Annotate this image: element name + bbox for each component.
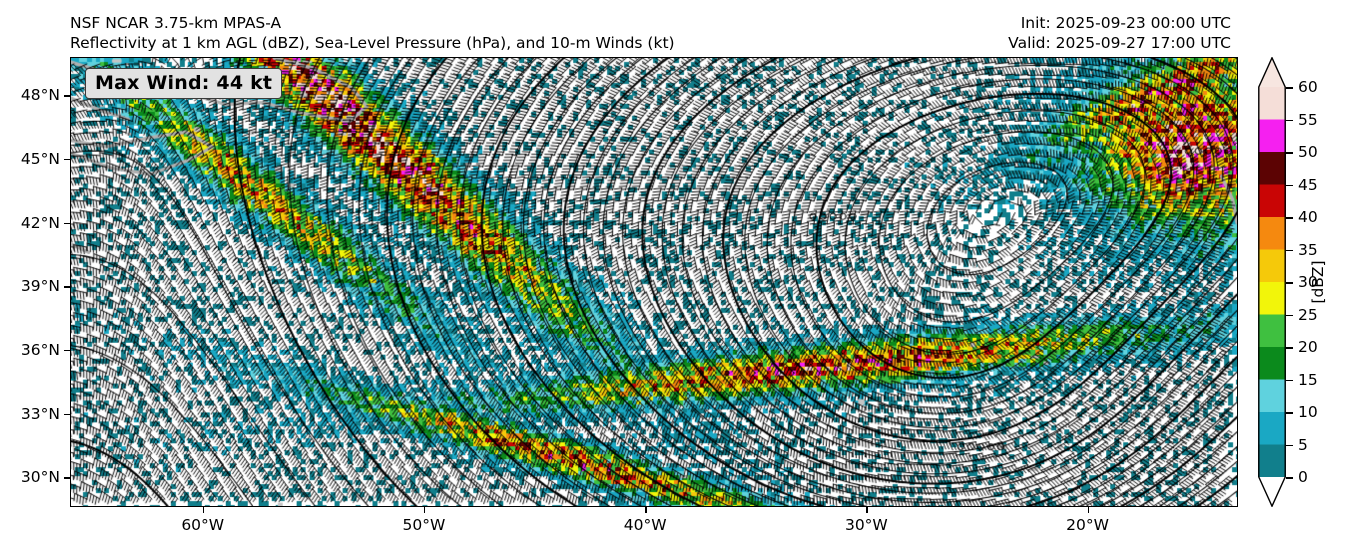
latitude-tick [64, 350, 70, 351]
latitude-tick [64, 95, 70, 96]
colorbar-under-arrow [1258, 477, 1286, 507]
longitude-tick-label: 40°W [624, 516, 667, 534]
latitude-tick-label: 45°N [21, 150, 60, 168]
colorbar-tick [1286, 412, 1293, 414]
title-fields: Reflectivity at 1 km AGL (dBZ), Sea-Leve… [70, 33, 675, 53]
init-time: Init: 2025-09-23 00:00 UTC [1008, 13, 1231, 33]
longitude-tick [645, 507, 646, 513]
longitude-tick [866, 507, 867, 513]
colorbar-tick-label: 10 [1298, 403, 1318, 421]
colorbar-over-arrow [1258, 57, 1286, 87]
latitude-tick-label: 36°N [21, 341, 60, 359]
colorbar-tick-label: 15 [1298, 371, 1318, 389]
colorbar-tick [1286, 217, 1293, 219]
colorbar-swatches [1258, 57, 1286, 507]
colorbar-tick-label: 50 [1298, 143, 1318, 161]
latitude-tick-label: 33°N [21, 405, 60, 423]
longitude-tick-label: 50°W [403, 516, 446, 534]
latitude-tick [64, 477, 70, 478]
colorbar-band [1258, 380, 1286, 413]
latitude-tick-label: 48°N [21, 86, 60, 104]
colorbar-band [1258, 412, 1286, 445]
latitude-tick-label: 30°N [21, 468, 60, 486]
colorbar-tick [1286, 282, 1293, 284]
latitude-tick [64, 286, 70, 287]
colorbar-band [1258, 347, 1286, 380]
colorbar-tick [1286, 315, 1293, 317]
colorbar-tick [1286, 477, 1293, 479]
colorbar-tick [1286, 152, 1293, 154]
colorbar-tick [1286, 87, 1293, 89]
map-panel: Max Wind: 44 kt [70, 57, 1238, 507]
colorbar-tick-label: 40 [1298, 208, 1318, 226]
figure-title-right: Init: 2025-09-23 00:00 UTC Valid: 2025-0… [1008, 13, 1231, 53]
longitude-tick-label: 20°W [1066, 516, 1109, 534]
colorbar-band [1258, 152, 1286, 185]
longitude-tick [203, 507, 204, 513]
map-canvas [71, 58, 1237, 506]
colorbar-band [1258, 87, 1286, 120]
longitude-tick [424, 507, 425, 513]
colorbar-band [1258, 282, 1286, 315]
longitude-tick-label: 30°W [845, 516, 888, 534]
colorbar [1258, 57, 1286, 507]
latitude-tick-label: 39°N [21, 277, 60, 295]
latitude-tick [64, 414, 70, 415]
colorbar-band [1258, 315, 1286, 348]
colorbar-tick-label: 5 [1298, 436, 1308, 454]
colorbar-tick [1286, 380, 1293, 382]
figure-root: NSF NCAR 3.75-km MPAS-A Reflectivity at … [0, 0, 1349, 551]
colorbar-tick [1286, 185, 1293, 187]
colorbar-band [1258, 217, 1286, 250]
colorbar-tick-label: 60 [1298, 78, 1318, 96]
colorbar-tick-label: 20 [1298, 338, 1318, 356]
title-model: NSF NCAR 3.75-km MPAS-A [70, 13, 675, 33]
colorbar-band [1258, 185, 1286, 218]
colorbar-tick-label: 35 [1298, 241, 1318, 259]
colorbar-band [1258, 250, 1286, 283]
longitude-tick [1088, 507, 1089, 513]
longitude-tick-label: 60°W [181, 516, 224, 534]
colorbar-tick [1286, 445, 1293, 447]
max-wind-annotation: Max Wind: 44 kt [85, 68, 282, 99]
colorbar-tick [1286, 250, 1293, 252]
colorbar-tick-label: 45 [1298, 176, 1318, 194]
colorbar-tick [1286, 347, 1293, 349]
valid-time: Valid: 2025-09-27 17:00 UTC [1008, 33, 1231, 53]
colorbar-tick-label: 55 [1298, 111, 1318, 129]
colorbar-tick-label: 25 [1298, 306, 1318, 324]
colorbar-tick-label: 0 [1298, 468, 1308, 486]
latitude-tick [64, 223, 70, 224]
colorbar-tick [1286, 120, 1293, 122]
colorbar-title: [dBZ] [1309, 260, 1327, 303]
figure-title-left: NSF NCAR 3.75-km MPAS-A Reflectivity at … [70, 13, 675, 53]
latitude-tick [64, 159, 70, 160]
colorbar-band [1258, 445, 1286, 478]
colorbar-band [1258, 120, 1286, 153]
latitude-tick-label: 42°N [21, 214, 60, 232]
